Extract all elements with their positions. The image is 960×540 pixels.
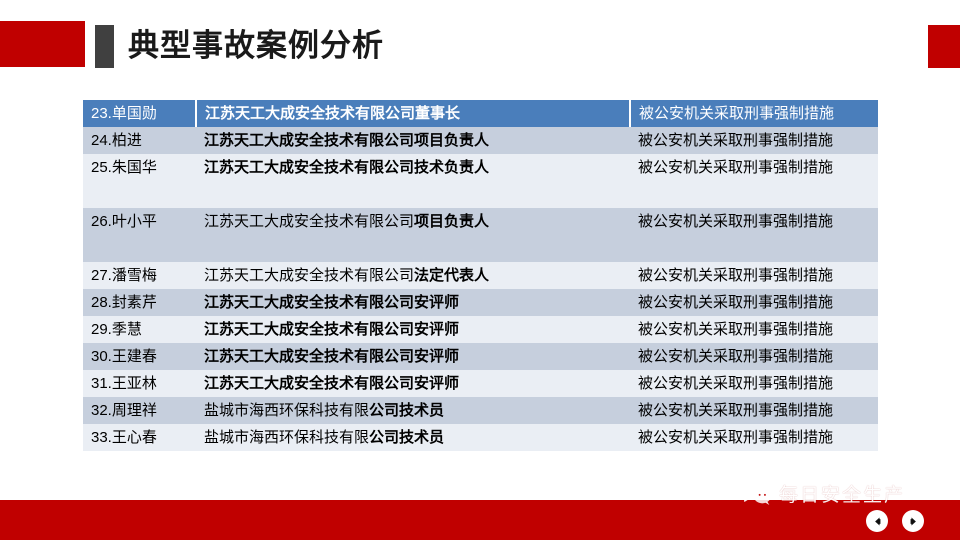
job-title: 项目负责人 — [414, 213, 489, 230]
cell-person-name: 28.封素芹 — [83, 289, 196, 316]
title-accent-bar — [95, 25, 114, 68]
organization-name: 江苏天工大成安全技术有限公司 — [204, 294, 414, 311]
next-slide-button[interactable] — [902, 510, 924, 532]
organization-name: 江苏天工大成安全技术有限公司 — [204, 132, 414, 149]
cell-measure-taken: 被公安机关采取刑事强制措施 — [630, 289, 878, 316]
watermark-text: 每日安全生产 — [779, 480, 905, 507]
cell-organization-role: 江苏天工大成安全技术有限公司安评师 — [196, 370, 630, 397]
arrow-left-icon — [872, 516, 883, 527]
organization-name: 江苏天工大成安全技术有限公司 — [204, 267, 414, 284]
organization-name: 江苏天工大成安全技术有限公司 — [204, 321, 414, 338]
cell-person-name: 24.柏进 — [83, 127, 196, 154]
job-title: 安评师 — [414, 375, 459, 392]
cell-organization-role: 江苏天工大成安全技术有限公司董事长 — [196, 100, 630, 127]
cell-organization-role: 盐城市海西环保科技有限公司技术员 — [196, 397, 630, 424]
cell-measure-taken: 被公安机关采取刑事强制措施 — [630, 343, 878, 370]
job-title: 技术负责人 — [414, 159, 489, 176]
cell-person-name: 25.朱国华 — [83, 154, 196, 208]
slide-navigation — [866, 510, 924, 532]
table-row: 27.潘雪梅江苏天工大成安全技术有限公司法定代表人被公安机关采取刑事强制措施 — [83, 262, 878, 289]
header-decoration-red-left — [0, 21, 85, 67]
table-row: 30.王建春江苏天工大成安全技术有限公司安评师被公安机关采取刑事强制措施 — [83, 343, 878, 370]
table-row: 32.周理祥盐城市海西环保科技有限公司技术员被公安机关采取刑事强制措施 — [83, 397, 878, 424]
job-title: 董事长 — [415, 105, 460, 122]
table-row: 23.单国勋江苏天工大成安全技术有限公司董事长被公安机关采取刑事强制措施 — [83, 100, 878, 127]
cell-person-name: 27.潘雪梅 — [83, 262, 196, 289]
cell-measure-taken: 被公安机关采取刑事强制措施 — [630, 370, 878, 397]
cell-organization-role: 江苏天工大成安全技术有限公司法定代表人 — [196, 262, 630, 289]
case-table-container: 23.单国勋江苏天工大成安全技术有限公司董事长被公安机关采取刑事强制措施24.柏… — [83, 100, 878, 451]
header-decoration-red-right — [928, 25, 960, 68]
cell-person-name: 29.季慧 — [83, 316, 196, 343]
cell-organization-role: 江苏天工大成安全技术有限公司安评师 — [196, 343, 630, 370]
cell-measure-taken: 被公安机关采取刑事强制措施 — [630, 424, 878, 451]
job-title: 法定代表人 — [414, 267, 489, 284]
organization-name: 江苏天工大成安全技术有限公司 — [204, 348, 414, 365]
table-row: 26.叶小平江苏天工大成安全技术有限公司项目负责人被公安机关采取刑事强制措施 — [83, 208, 878, 262]
cell-organization-role: 江苏天工大成安全技术有限公司安评师 — [196, 316, 630, 343]
cell-organization-role: 江苏天工大成安全技术有限公司安评师 — [196, 289, 630, 316]
cell-measure-taken: 被公安机关采取刑事强制措施 — [630, 262, 878, 289]
job-title: 公司技术员 — [369, 402, 444, 419]
cell-person-name: 32.周理祥 — [83, 397, 196, 424]
cell-measure-taken: 被公安机关采取刑事强制措施 — [630, 397, 878, 424]
cell-person-name: 30.王建春 — [83, 343, 196, 370]
cell-person-name: 33.王心春 — [83, 424, 196, 451]
job-title: 项目负责人 — [414, 132, 489, 149]
page-title: 典型事故案例分析 — [128, 24, 384, 68]
case-table: 23.单国勋江苏天工大成安全技术有限公司董事长被公安机关采取刑事强制措施24.柏… — [83, 100, 878, 451]
cell-person-name: 26.叶小平 — [83, 208, 196, 262]
cell-measure-taken: 被公安机关采取刑事强制措施 — [630, 208, 878, 262]
cell-person-name: 31.王亚林 — [83, 370, 196, 397]
cell-organization-role: 盐城市海西环保科技有限公司技术员 — [196, 424, 630, 451]
prev-slide-button[interactable] — [866, 510, 888, 532]
job-title: 安评师 — [414, 294, 459, 311]
wechat-icon — [742, 481, 772, 507]
cell-measure-taken: 被公安机关采取刑事强制措施 — [630, 154, 878, 208]
table-row: 29.季慧江苏天工大成安全技术有限公司安评师被公安机关采取刑事强制措施 — [83, 316, 878, 343]
arrow-right-icon — [908, 516, 919, 527]
job-title: 安评师 — [414, 348, 459, 365]
table-row: 25.朱国华江苏天工大成安全技术有限公司技术负责人被公安机关采取刑事强制措施 — [83, 154, 878, 208]
table-row: 24.柏进江苏天工大成安全技术有限公司项目负责人被公安机关采取刑事强制措施 — [83, 127, 878, 154]
cell-measure-taken: 被公安机关采取刑事强制措施 — [630, 127, 878, 154]
cell-person-name: 23.单国勋 — [83, 100, 196, 127]
watermark: 每日安全生产 — [742, 480, 905, 507]
table-row: 33.王心春盐城市海西环保科技有限公司技术员被公安机关采取刑事强制措施 — [83, 424, 878, 451]
job-title: 安评师 — [414, 321, 459, 338]
organization-name: 江苏天工大成安全技术有限公司 — [205, 105, 415, 122]
cell-organization-role: 江苏天工大成安全技术有限公司项目负责人 — [196, 127, 630, 154]
cell-measure-taken: 被公安机关采取刑事强制措施 — [630, 316, 878, 343]
organization-name: 江苏天工大成安全技术有限公司 — [204, 375, 414, 392]
case-table-body: 23.单国勋江苏天工大成安全技术有限公司董事长被公安机关采取刑事强制措施24.柏… — [83, 100, 878, 451]
organization-name: 江苏天工大成安全技术有限公司 — [204, 213, 414, 230]
cell-organization-role: 江苏天工大成安全技术有限公司技术负责人 — [196, 154, 630, 208]
job-title: 公司技术员 — [369, 429, 444, 446]
organization-name: 江苏天工大成安全技术有限公司 — [204, 159, 414, 176]
table-row: 31.王亚林江苏天工大成安全技术有限公司安评师被公安机关采取刑事强制措施 — [83, 370, 878, 397]
cell-measure-taken: 被公安机关采取刑事强制措施 — [630, 100, 878, 127]
organization-name: 盐城市海西环保科技有限 — [204, 402, 369, 419]
table-row: 28.封素芹江苏天工大成安全技术有限公司安评师被公安机关采取刑事强制措施 — [83, 289, 878, 316]
organization-name: 盐城市海西环保科技有限 — [204, 429, 369, 446]
cell-organization-role: 江苏天工大成安全技术有限公司项目负责人 — [196, 208, 630, 262]
